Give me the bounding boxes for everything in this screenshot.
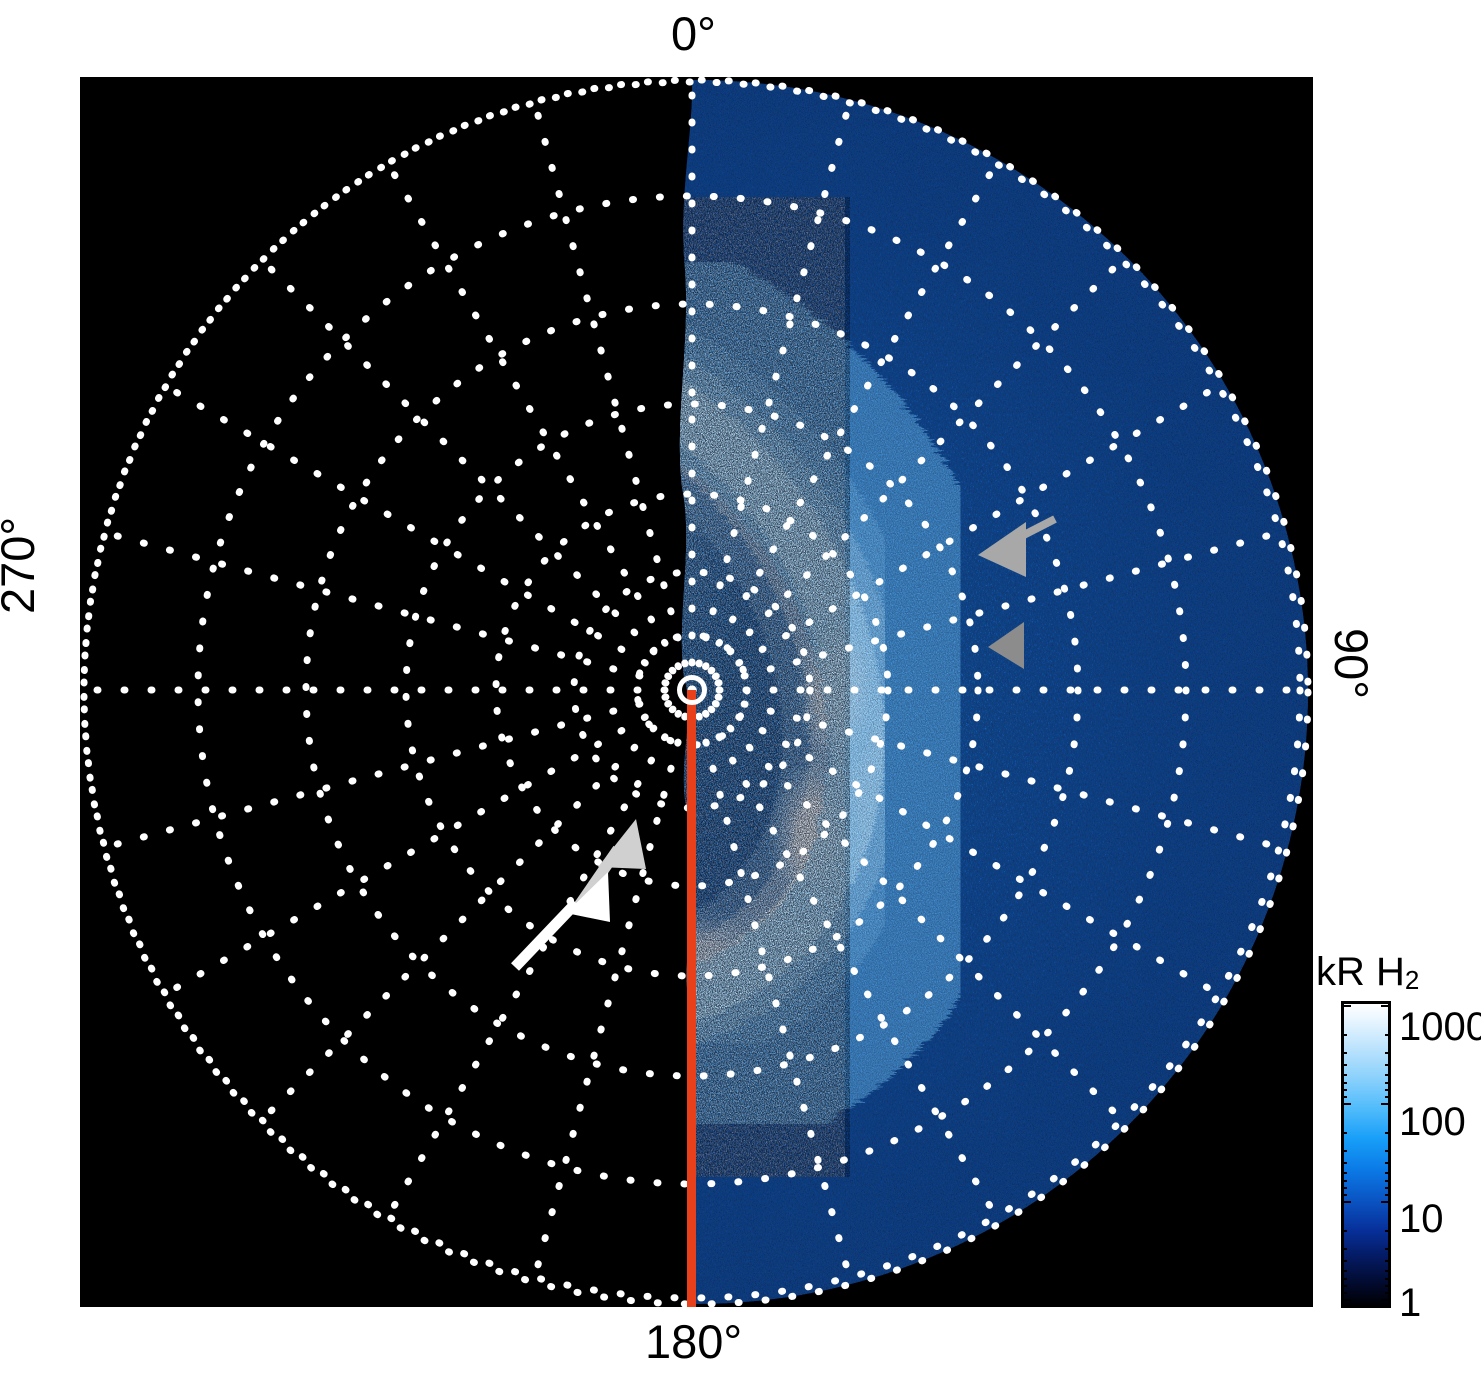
colorbar-title-main: kR H <box>1316 950 1405 994</box>
grey-arrow-upper-right <box>978 519 1055 577</box>
colorbar-title-sub: 2 <box>1405 965 1419 995</box>
colorbar-title: kR H2 <box>1316 950 1419 996</box>
colorbar-tick-1000: 1000 <box>1399 1005 1481 1050</box>
axis-label-top: 0° <box>671 10 716 57</box>
axis-label-right: 90° <box>1328 628 1375 699</box>
white-arrow-lower-left <box>515 872 610 967</box>
grey-triangle-right <box>988 622 1024 669</box>
colorbar-gradient <box>1341 1001 1391 1308</box>
figure-canvas: 0° 180° 270° 90° <box>0 0 1481 1384</box>
colorbar-tick-100: 100 <box>1399 1100 1466 1145</box>
colorbar-tick-10: 10 <box>1399 1197 1444 1242</box>
axis-label-left: 270° <box>0 517 41 614</box>
colorbar-tick-1: 1 <box>1399 1281 1421 1326</box>
axis-label-bottom: 180° <box>645 1318 742 1365</box>
polar-plot-area <box>80 77 1313 1307</box>
annotation-arrows <box>80 77 1313 1307</box>
